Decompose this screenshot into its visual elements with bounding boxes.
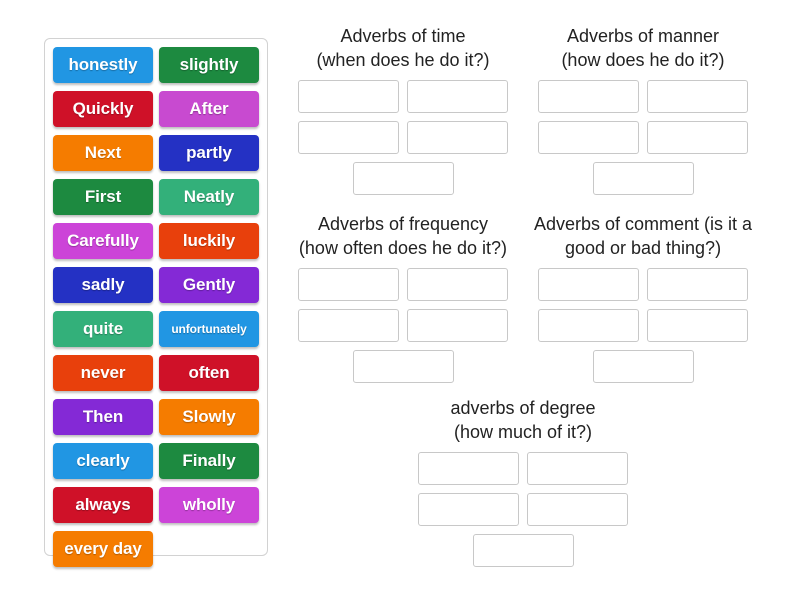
drop-zone-group: [288, 268, 518, 383]
drop-zone-row: [593, 162, 694, 195]
word-tile[interactable]: always: [53, 487, 153, 523]
drop-zone-row: [418, 452, 628, 485]
drop-zone-group: [408, 452, 638, 567]
word-bank-grid: honestlyslightlyQuicklyAfterNextpartlyFi…: [53, 47, 259, 567]
word-tile[interactable]: Gently: [159, 267, 259, 303]
word-tile[interactable]: Then: [53, 399, 153, 435]
category-title: Adverbs of frequency (how often does he …: [288, 212, 518, 260]
drop-zone-comment[interactable]: [593, 350, 694, 383]
drop-zone-time[interactable]: [407, 121, 508, 154]
drop-zone-row: [538, 268, 748, 301]
drop-zone-comment[interactable]: [647, 309, 748, 342]
word-tile[interactable]: never: [53, 355, 153, 391]
drop-zone-row: [353, 162, 454, 195]
word-bank-empty-slot: [159, 531, 259, 567]
category-adverbs-of-comment: Adverbs of comment (is it a good or bad …: [528, 212, 758, 383]
category-title: Adverbs of manner (how does he do it?): [528, 24, 758, 72]
word-tile[interactable]: unfortunately: [159, 311, 259, 347]
word-tile[interactable]: Carefully: [53, 223, 153, 259]
drop-zone-manner[interactable]: [538, 80, 639, 113]
drop-zone-row: [418, 493, 628, 526]
drop-zone-manner[interactable]: [647, 121, 748, 154]
drop-zone-time[interactable]: [407, 80, 508, 113]
word-tile[interactable]: Finally: [159, 443, 259, 479]
drop-zone-row: [538, 80, 748, 113]
category-adverbs-of-manner: Adverbs of manner (how does he do it?): [528, 24, 758, 195]
drop-zone-frequency[interactable]: [353, 350, 454, 383]
word-tile[interactable]: First: [53, 179, 153, 215]
category-title: Adverbs of time (when does he do it?): [288, 24, 518, 72]
drop-zone-group: [288, 80, 518, 195]
drop-zone-time[interactable]: [298, 121, 399, 154]
word-bank-panel: honestlyslightlyQuicklyAfterNextpartlyFi…: [44, 38, 268, 556]
drop-zone-frequency[interactable]: [298, 268, 399, 301]
word-tile[interactable]: honestly: [53, 47, 153, 83]
drop-zone-row: [593, 350, 694, 383]
word-tile[interactable]: Neatly: [159, 179, 259, 215]
drop-zone-manner[interactable]: [538, 121, 639, 154]
category-title: Adverbs of comment (is it a good or bad …: [528, 212, 758, 260]
word-tile[interactable]: wholly: [159, 487, 259, 523]
drop-zone-manner[interactable]: [647, 80, 748, 113]
drop-zone-frequency[interactable]: [407, 309, 508, 342]
drop-zone-degree[interactable]: [418, 493, 519, 526]
word-tile[interactable]: sadly: [53, 267, 153, 303]
drop-zone-row: [298, 268, 508, 301]
category-title: adverbs of degree (how much of it?): [408, 396, 638, 444]
drop-zone-time[interactable]: [353, 162, 454, 195]
drop-zone-degree[interactable]: [418, 452, 519, 485]
drop-zone-row: [473, 534, 574, 567]
word-tile[interactable]: slightly: [159, 47, 259, 83]
word-tile[interactable]: quite: [53, 311, 153, 347]
drop-zone-row: [538, 121, 748, 154]
drop-zone-time[interactable]: [298, 80, 399, 113]
word-tile[interactable]: Next: [53, 135, 153, 171]
drop-zone-row: [298, 121, 508, 154]
drop-zone-row: [353, 350, 454, 383]
category-adverbs-of-time: Adverbs of time (when does he do it?): [288, 24, 518, 195]
word-tile[interactable]: luckily: [159, 223, 259, 259]
drop-zone-degree[interactable]: [527, 493, 628, 526]
drop-zone-frequency[interactable]: [407, 268, 508, 301]
drop-zone-comment[interactable]: [538, 268, 639, 301]
drop-zone-degree[interactable]: [527, 452, 628, 485]
word-tile[interactable]: often: [159, 355, 259, 391]
drop-zone-comment[interactable]: [647, 268, 748, 301]
word-tile[interactable]: After: [159, 91, 259, 127]
word-tile[interactable]: partly: [159, 135, 259, 171]
word-tile[interactable]: Quickly: [53, 91, 153, 127]
drop-zone-manner[interactable]: [593, 162, 694, 195]
word-tile[interactable]: clearly: [53, 443, 153, 479]
drop-zone-frequency[interactable]: [298, 309, 399, 342]
drop-zone-row: [298, 309, 508, 342]
category-adverbs-of-frequency: Adverbs of frequency (how often does he …: [288, 212, 518, 383]
drop-zone-row: [298, 80, 508, 113]
drop-zone-group: [528, 268, 758, 383]
drop-zone-degree[interactable]: [473, 534, 574, 567]
drop-zone-row: [538, 309, 748, 342]
category-adverbs-of-degree: adverbs of degree (how much of it?): [408, 396, 638, 567]
drop-zone-comment[interactable]: [538, 309, 639, 342]
word-tile[interactable]: Slowly: [159, 399, 259, 435]
drop-zone-group: [528, 80, 758, 195]
word-tile[interactable]: every day: [53, 531, 153, 567]
